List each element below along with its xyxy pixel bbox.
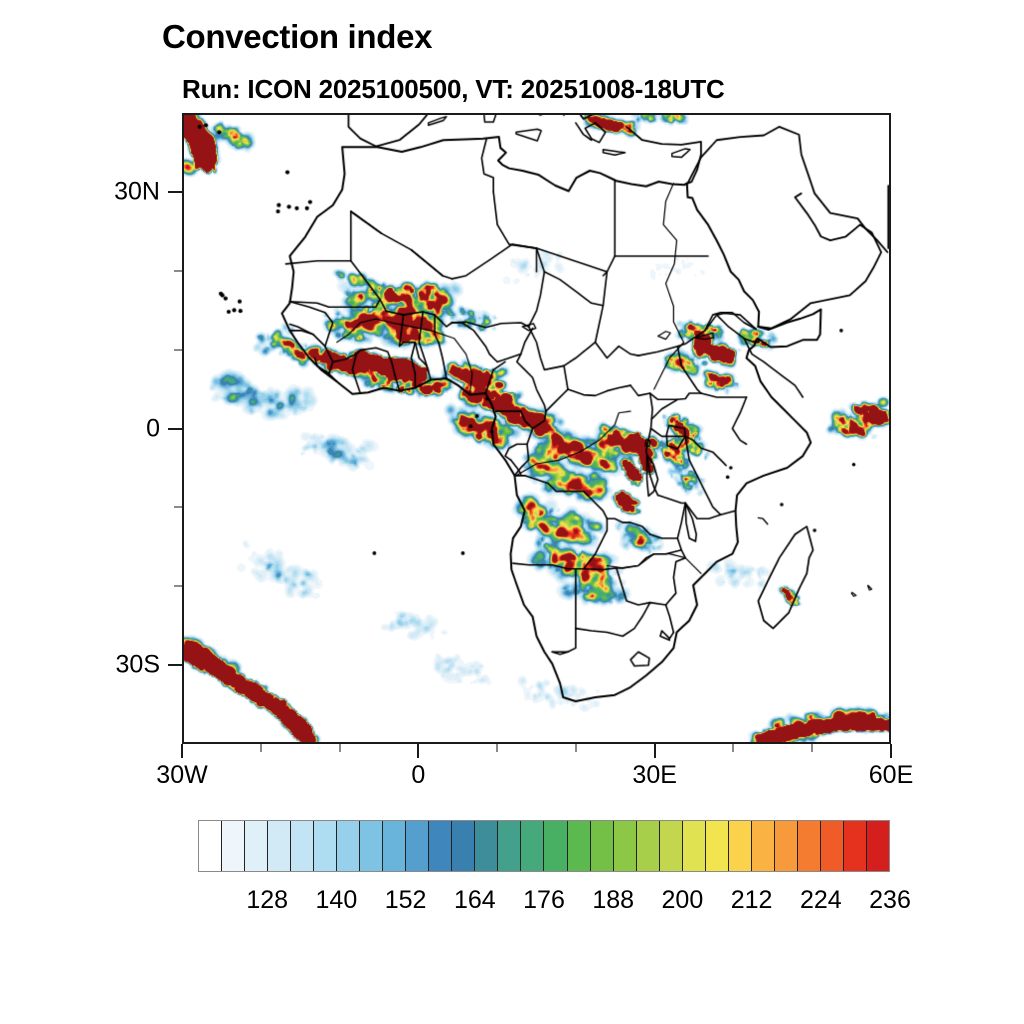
colorbar-cell (568, 821, 591, 871)
x-tick (890, 744, 892, 758)
colorbar-cell (614, 821, 637, 871)
colorbar-cell (683, 821, 706, 871)
x-axis-label: 30W (156, 761, 207, 790)
colorbar-cell (521, 821, 544, 871)
colorbar-cell (752, 821, 775, 871)
y-tick (174, 585, 182, 587)
map-plot-area (182, 113, 891, 744)
colorbar-cell (498, 821, 521, 871)
colorbar-cell (867, 821, 889, 871)
colorbar-cell (775, 821, 798, 871)
colorbar-cell (660, 821, 683, 871)
colorbar-cell (360, 821, 383, 871)
x-tick (181, 744, 183, 758)
x-axis-label: 60E (869, 761, 913, 790)
colorbar-cell (383, 821, 406, 871)
x-axis-label: 0 (411, 761, 425, 790)
y-tick (168, 664, 182, 666)
colorbar-cell (314, 821, 337, 871)
colorbar-cell (291, 821, 314, 871)
colorbar-tick-label: 176 (523, 886, 565, 915)
colorbar-tick-label: 200 (662, 886, 704, 915)
x-tick (654, 744, 656, 758)
colorbar-tick-label: 128 (246, 886, 288, 915)
figure-root: Convection index Run: ICON 2025100500, V… (0, 0, 1024, 1024)
colorbar-cell (637, 821, 660, 871)
x-tick (417, 744, 419, 758)
colorbar-cell (406, 821, 429, 871)
y-axis-label: 30N (60, 177, 160, 206)
colorbar-cell (475, 821, 498, 871)
x-tick (575, 744, 577, 752)
y-tick (174, 349, 182, 351)
colorbar-cell (844, 821, 867, 871)
colorbar-cell (706, 821, 729, 871)
convection-index-field (184, 115, 889, 742)
run-valid-time-subtitle: Run: ICON 2025100500, VT: 20251008-18UTC (182, 74, 725, 105)
colorbar-cell (245, 821, 268, 871)
x-tick (811, 744, 813, 752)
colorbar-cell (337, 821, 360, 871)
colorbar-cell (591, 821, 614, 871)
x-tick (732, 744, 734, 752)
page-title: Convection index (162, 18, 432, 56)
colorbar-tick-label: 140 (316, 886, 358, 915)
colorbar-cell (729, 821, 752, 871)
colorbar-cell (429, 821, 452, 871)
colorbar-tick-label: 236 (869, 886, 911, 915)
colorbar-cell (452, 821, 475, 871)
colorbar-cell (798, 821, 821, 871)
colorbar-tick-label: 212 (731, 886, 773, 915)
colorbar-tick-label: 164 (454, 886, 496, 915)
colorbar-cell (222, 821, 245, 871)
x-tick (496, 744, 498, 752)
y-axis-label: 30S (60, 651, 160, 680)
colorbar-tick-label: 152 (385, 886, 427, 915)
colorbar-cell (544, 821, 567, 871)
colorbar-tick-label: 188 (592, 886, 634, 915)
colorbar-cell (821, 821, 844, 871)
x-tick (260, 744, 262, 752)
y-tick (168, 428, 182, 430)
colorbar-cell (268, 821, 291, 871)
y-tick (168, 191, 182, 193)
y-tick (174, 270, 182, 272)
colorbar-tick-label: 224 (800, 886, 842, 915)
x-axis-label: 30E (632, 761, 676, 790)
colorbar (198, 820, 890, 872)
x-tick (339, 744, 341, 752)
y-tick (174, 506, 182, 508)
y-axis-label: 0 (60, 414, 160, 443)
colorbar-cell (199, 821, 222, 871)
